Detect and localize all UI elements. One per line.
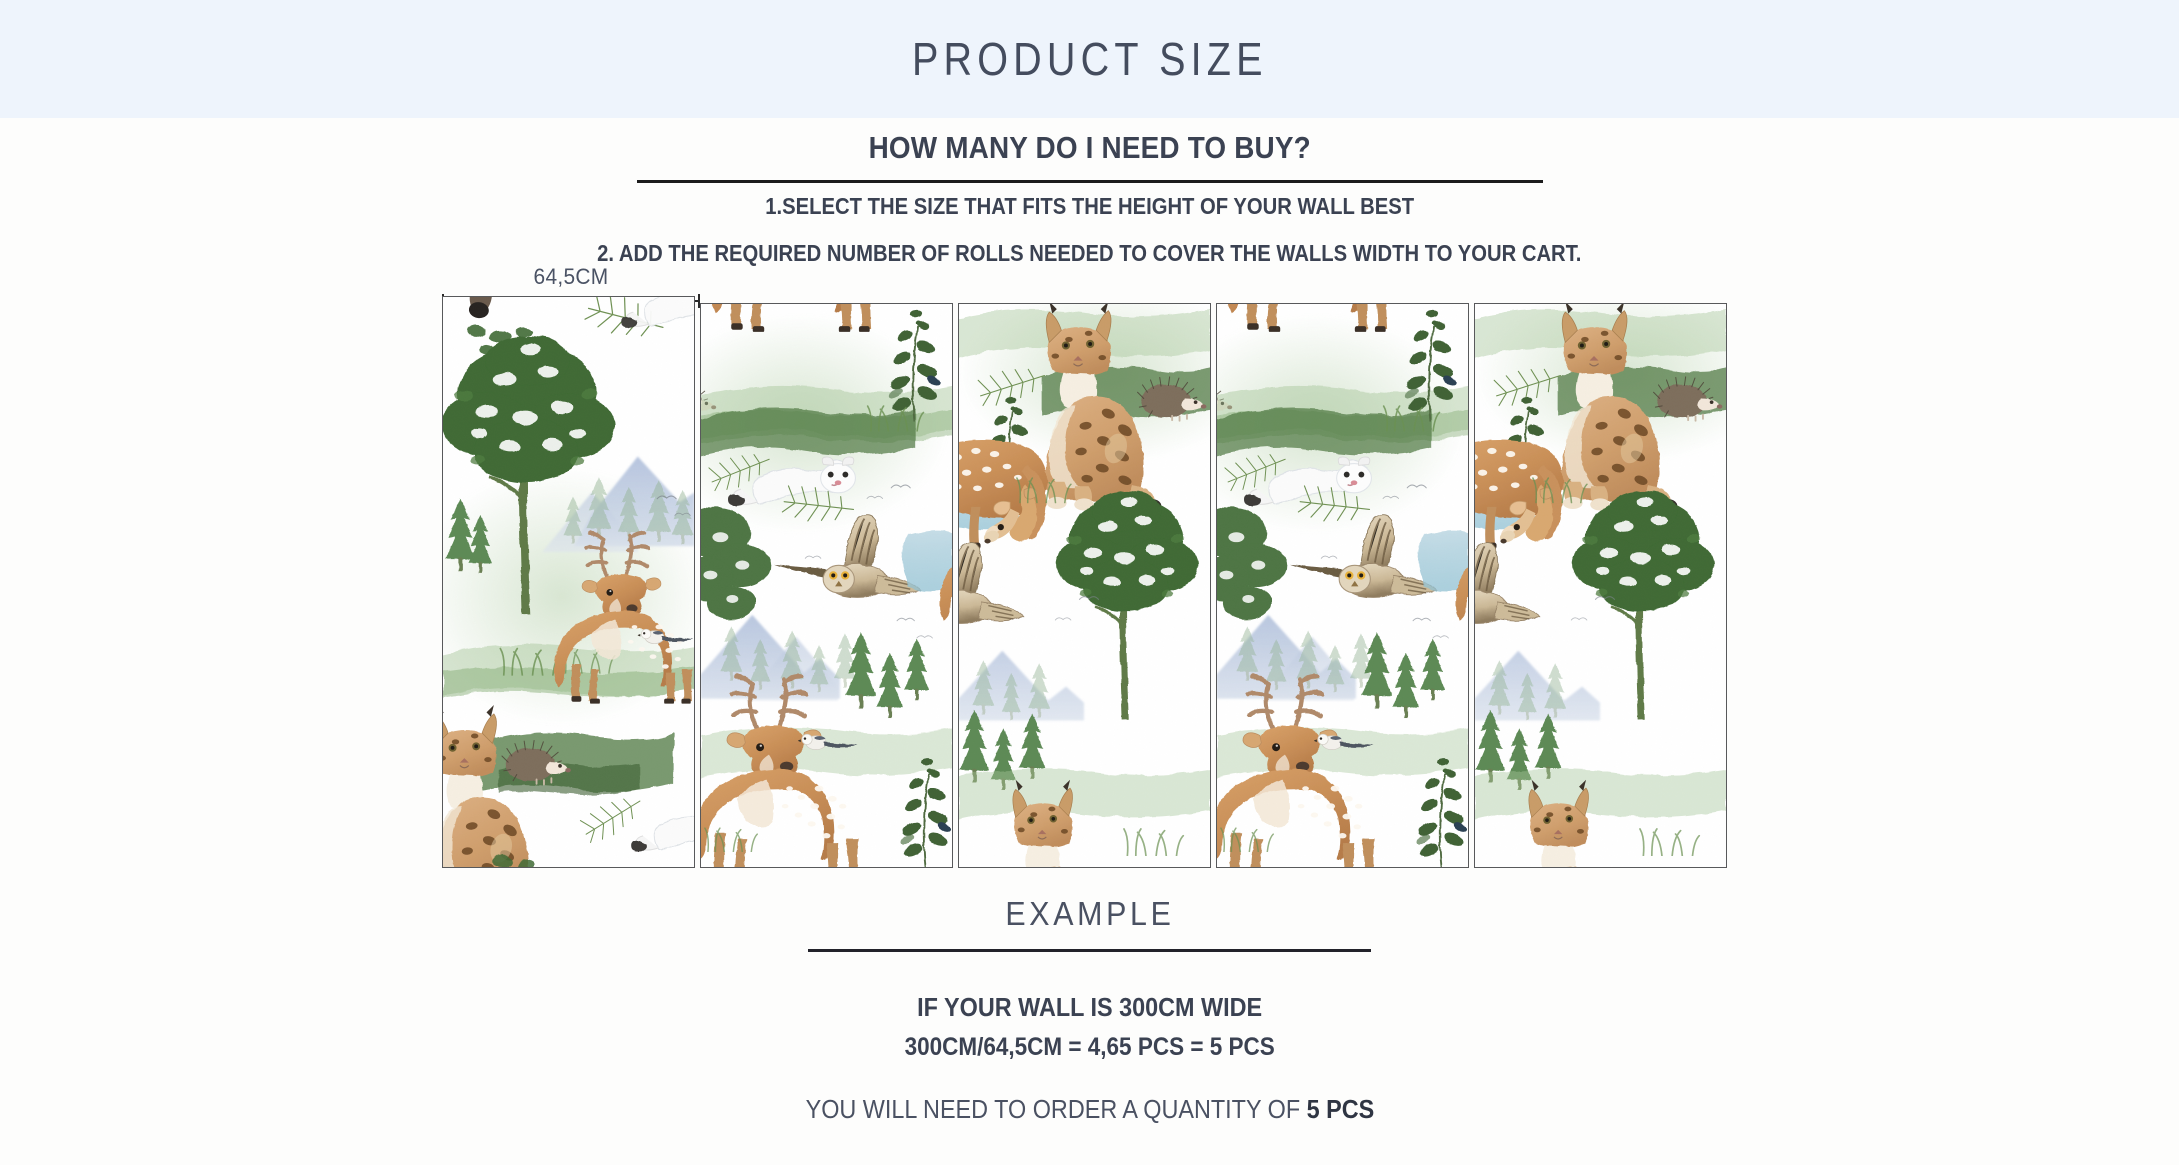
panel-3-artwork xyxy=(959,304,1210,867)
dimension-label: 64,5CM xyxy=(448,264,693,290)
instructions-heading: HOW MANY DO I NEED TO BUY? xyxy=(868,130,1310,166)
example-calculation: 300CM/64,5CM = 4,65 PCS = 5 PCS xyxy=(904,1033,1274,1062)
panel-1-artwork xyxy=(443,297,694,867)
page-title: PRODUCT SIZE xyxy=(912,32,1268,86)
example-wall-width: IF YOUR WALL IS 300CM WIDE xyxy=(917,992,1262,1023)
instruction-step-1: 1.SELECT THE SIZE THAT FITS THE HEIGHT O… xyxy=(765,193,1414,220)
order-prefix: YOU WILL NEED TO ORDER A QUANTITY OF xyxy=(805,1094,1306,1124)
wallpaper-panel-2[interactable] xyxy=(700,303,953,868)
instructions-section: HOW MANY DO I NEED TO BUY? 1.SELECT THE … xyxy=(0,130,2179,267)
wallpaper-panel-row xyxy=(442,303,1727,868)
wallpaper-panel-1[interactable] xyxy=(442,296,695,868)
page-header: PRODUCT SIZE xyxy=(0,0,2179,118)
panel-4-artwork xyxy=(1217,304,1468,867)
example-order-quantity: YOU WILL NEED TO ORDER A QUANTITY OF 5 P… xyxy=(805,1094,1374,1125)
example-heading: EXAMPLE xyxy=(1005,895,1174,933)
wallpaper-panel-4[interactable] xyxy=(1216,303,1469,868)
wallpaper-panel-3[interactable] xyxy=(958,303,1211,868)
panel-5-artwork xyxy=(1475,304,1726,867)
example-section: EXAMPLE IF YOUR WALL IS 300CM WIDE 300CM… xyxy=(0,895,2179,1125)
wallpaper-panel-5[interactable] xyxy=(1474,303,1727,868)
instruction-step-2: 2. ADD THE REQUIRED NUMBER OF ROLLS NEED… xyxy=(597,240,1581,267)
panel-2-artwork xyxy=(701,304,952,867)
order-quantity-value: 5 PCS xyxy=(1306,1094,1374,1124)
